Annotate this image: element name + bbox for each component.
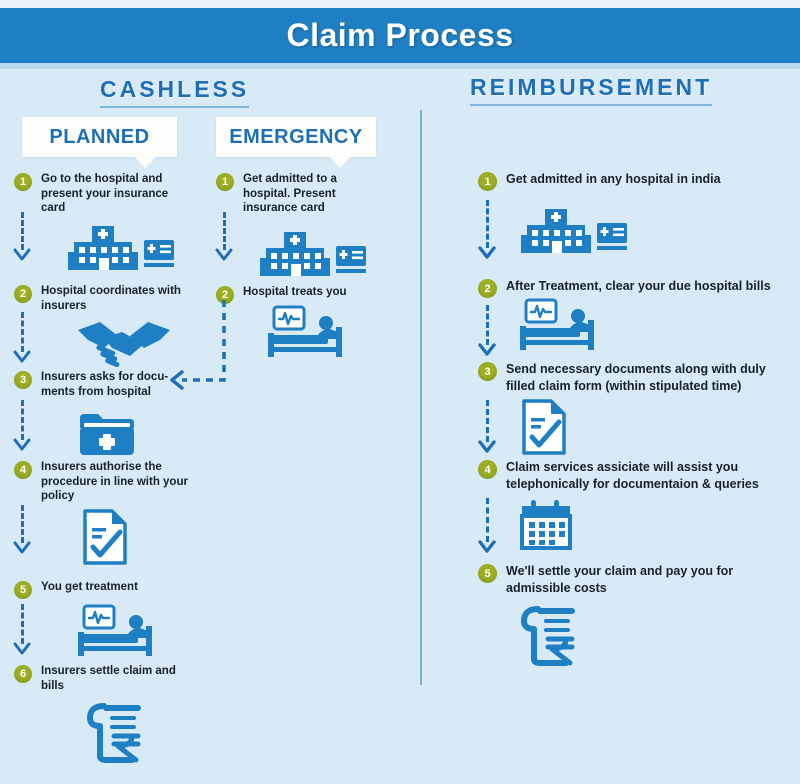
step-text: Insurers authorise the procedure in line…	[41, 460, 189, 504]
top-strip	[0, 0, 800, 8]
hospital-and-card-icon	[66, 222, 174, 272]
step-bullet: 2	[478, 279, 497, 298]
reimbursement-step-1: 1 Get admitted in any hospital in india	[478, 171, 778, 191]
step-text: Insurers asks for docu-ments from hospit…	[41, 370, 179, 399]
patient-bed-icon	[70, 604, 166, 658]
reimbursement-step-2: 2 After Treatment, clear your due hospit…	[478, 278, 788, 298]
step-text: Get admitted in any hospital in india	[506, 171, 721, 188]
step-text: Claim services assiciate will assist you…	[506, 459, 793, 493]
handshake-icon	[74, 318, 174, 370]
flow-dash	[486, 200, 492, 248]
flow-dash	[21, 212, 27, 250]
flow-arrow-icon	[13, 541, 31, 554]
planned-step-5: 5 You get treatment	[14, 580, 189, 599]
header-bar: Claim Process	[0, 8, 800, 63]
claim-form-icon	[519, 398, 569, 456]
step-bullet: 6	[14, 665, 32, 683]
flow-dash	[21, 312, 27, 352]
rupee-bill-icon	[84, 702, 148, 764]
flow-dash	[223, 212, 229, 250]
header-underline	[0, 63, 800, 69]
step-bullet: 2	[14, 285, 32, 303]
step-bullet: 5	[478, 564, 497, 583]
flow-dash	[486, 498, 492, 542]
step-text: Insurers settle claim and bills	[41, 664, 189, 693]
step-bullet: 1	[14, 173, 32, 191]
calendar-icon	[518, 498, 574, 552]
planned-step-6: 6 Insurers settle claim and bills	[14, 664, 189, 693]
tab-planned-label: PLANNED	[49, 126, 149, 149]
flow-dash	[486, 400, 492, 442]
step-text: You get treatment	[41, 580, 138, 595]
step-text: After Treatment, clear your due hospital…	[506, 278, 771, 295]
flow-arrow-icon	[13, 438, 31, 451]
flow-arrow-icon	[478, 246, 496, 259]
flow-arrow-icon	[13, 642, 31, 655]
step-bullet: 4	[478, 460, 497, 479]
patient-bed-icon	[512, 298, 608, 352]
flow-arrow-icon	[478, 440, 496, 453]
step-bullet: 1	[216, 173, 234, 191]
flow-arrow-icon	[215, 248, 233, 261]
hospital-and-card-icon	[258, 228, 366, 278]
step-bullet: 5	[14, 581, 32, 599]
planned-step-4: 4 Insurers authorise the procedure in li…	[14, 460, 189, 504]
reimbursement-step-5: 5 We'll settle your claim and pay you fo…	[478, 563, 778, 597]
infographic-root: Claim Process CASHLESS REIMBURSEMENT PLA…	[0, 0, 800, 784]
step-text: Hospital treats you	[243, 285, 347, 300]
flow-dash	[21, 400, 27, 440]
column-divider	[420, 110, 422, 685]
step-text: Get admitted to a hospital. Present insu…	[243, 172, 376, 216]
tab-planned[interactable]: PLANNED	[22, 117, 177, 157]
column-heading-reimbursement: REIMBURSEMENT	[470, 74, 712, 106]
step-bullet: 3	[14, 371, 32, 389]
page-title: Claim Process	[286, 17, 513, 54]
flow-arrow-icon	[478, 540, 496, 553]
emergency-step-1: 1 Get admitted to a hospital. Present in…	[216, 172, 376, 216]
step-text: We'll settle your claim and pay you for …	[506, 563, 778, 597]
step-bullet: 4	[14, 461, 32, 479]
planned-step-3: 3 Insurers asks for docu-ments from hosp…	[14, 370, 179, 399]
flow-dash	[21, 604, 27, 644]
reimbursement-step-3: 3 Send necessary documents along with du…	[478, 361, 788, 395]
column-heading-cashless: CASHLESS	[100, 76, 249, 108]
hospital-and-card-icon	[519, 205, 627, 255]
emergency-step-2: 2 Hospital treats you	[216, 285, 376, 304]
medical-folder-icon	[76, 408, 138, 460]
planned-step-1: 1 Go to the hospital and present your in…	[14, 172, 189, 216]
flow-arrow-icon	[13, 248, 31, 261]
flow-arrow-icon	[13, 350, 31, 363]
rupee-bill-icon	[518, 605, 582, 667]
reimbursement-step-4: 4 Claim services assiciate will assist y…	[478, 459, 793, 493]
claim-form-icon	[80, 508, 130, 566]
flow-arrow-icon	[478, 343, 496, 356]
step-text: Send necessary documents along with duly…	[506, 361, 788, 395]
step-bullet: 3	[478, 362, 497, 381]
step-text: Go to the hospital and present your insu…	[41, 172, 189, 216]
flow-dash	[21, 505, 27, 543]
flow-dash	[486, 305, 492, 345]
tab-emergency-label: EMERGENCY	[229, 126, 362, 149]
step-bullet: 1	[478, 172, 497, 191]
tab-emergency[interactable]: EMERGENCY	[216, 117, 376, 157]
emergency-return-arrow-icon	[160, 300, 235, 395]
patient-bed-icon	[260, 305, 356, 359]
